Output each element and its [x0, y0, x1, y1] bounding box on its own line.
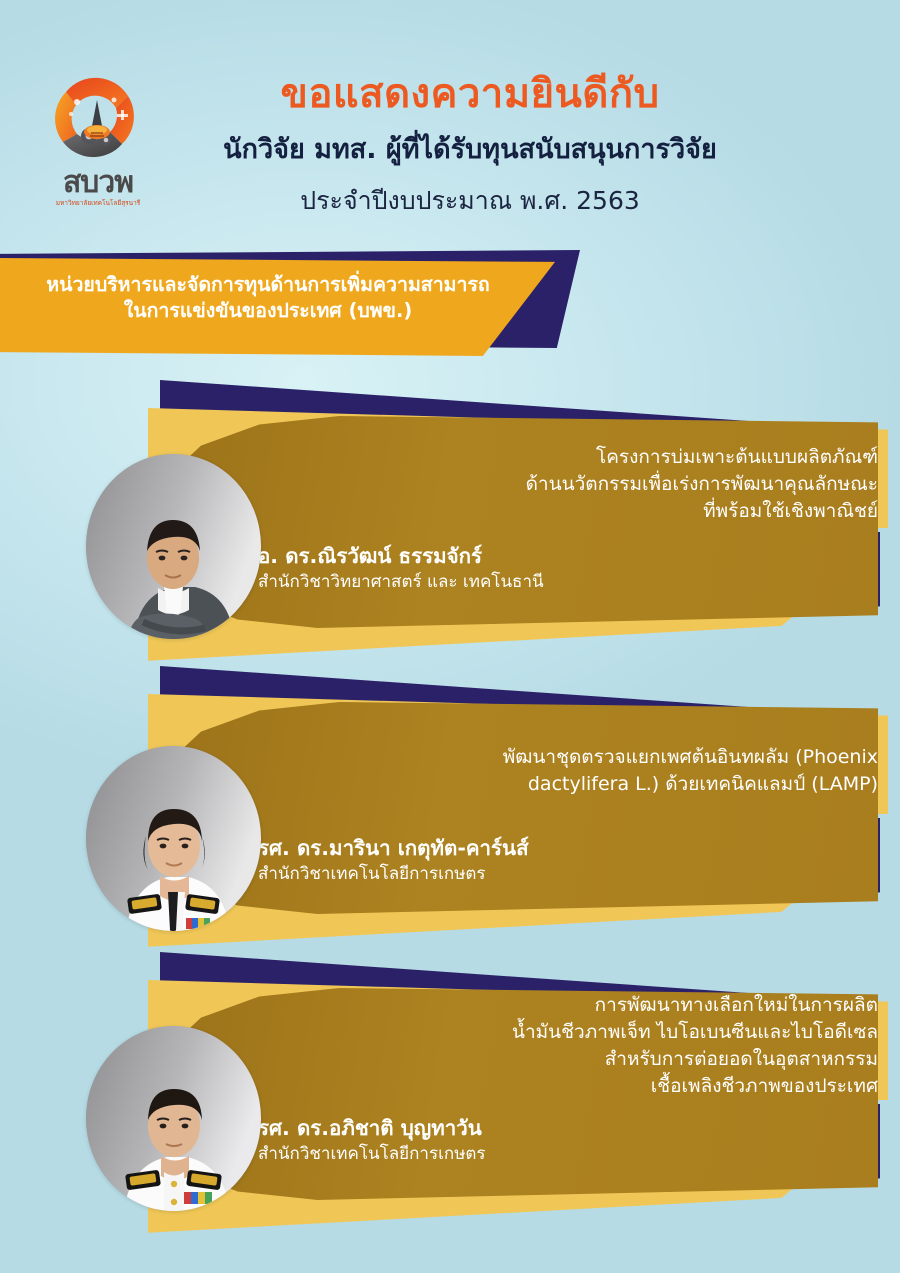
project-line: ที่พร้อมใช้เชิงพาณิชย์ — [703, 500, 878, 522]
banner-line-1: หน่วยบริหารและจัดการทุนด้านการเพิ่มความส… — [46, 273, 489, 296]
sut-research-institute-logo-icon — [36, 72, 160, 172]
project-title: โครงการบ่มเพาะต้นแบบผลิตภัณฑ์ ด้านนวัตกร… — [258, 444, 878, 525]
researcher-affiliation: สำนักวิชาเทคโนโลยีการเกษตร — [258, 864, 818, 885]
project-line: เชื้อเพลิงชีวภาพของประเทศ — [651, 1075, 878, 1097]
researcher-name: รศ. ดร.มารินา เกตุทัต-คาร์นส์ — [258, 836, 818, 862]
logo-subtitle: มหาวิทยาลัยเทคโนโลยีสุรนารี — [36, 200, 160, 207]
researcher-card: โครงการบ่มเพาะต้นแบบผลิตภัณฑ์ ด้านนวัตกร… — [0, 372, 900, 662]
page-title: ขอแสดงความยินดีกับ — [150, 72, 790, 117]
researcher-portrait — [86, 1026, 261, 1211]
project-line: ด้านนวัตกรรมเพื่อเร่งการพัฒนาคุณลักษณะ — [526, 473, 878, 495]
logo-acronym: สบวพ — [36, 168, 160, 198]
organization-logo: สบวพ มหาวิทยาลัยเทคโนโลยีสุรนารี — [36, 72, 160, 222]
poster-canvas: สบวพ มหาวิทยาลัยเทคโนโลยีสุรนารี ขอแสดงค… — [0, 0, 900, 1273]
project-line: dactylifera L.) ด้วยเทคนิคแลมป์ (LAMP) — [528, 773, 878, 795]
poster-header: สบวพ มหาวิทยาลัยเทคโนโลยีสุรนารี ขอแสดงค… — [0, 0, 900, 250]
researcher-affiliation: สำนักวิชาเทคโนโลยีการเกษตร — [258, 1144, 818, 1165]
project-title: พัฒนาชุดตรวจแยกเพศต้นอินทผลัม (Phoenix d… — [258, 744, 878, 798]
researcher-name: รศ. ดร.อภิชาติ บุญทาวัน — [258, 1116, 818, 1142]
project-line: โครงการบ่มเพาะต้นแบบผลิตภัณฑ์ — [596, 446, 878, 468]
portrait-uniform-female-icon — [86, 746, 261, 931]
portrait-uniform-male-icon — [86, 1026, 261, 1211]
portrait-suit-icon — [86, 454, 261, 639]
researcher-card: การพัฒนาทางเลือกใหม่ในการผลิต น้ำมันชีวภ… — [0, 944, 900, 1234]
page-subtitle-primary: นักวิจัย มทส. ผู้ที่ได้รับทุนสนับสนุนการ… — [150, 134, 790, 166]
banner-line-2: ในการแข่งขันของประเทศ (บพข.) — [124, 299, 413, 322]
project-line: การพัฒนาทางเลือกใหม่ในการผลิต — [595, 994, 878, 1016]
researcher-name: อ. ดร.ณิรวัฒน์ ธรรมจักร์ — [258, 544, 818, 570]
project-line: พัฒนาชุดตรวจแยกเพศต้นอินทผลัม (Phoenix — [503, 746, 878, 768]
funding-agency-banner: หน่วยบริหารและจัดการทุนด้านการเพิ่มความส… — [0, 250, 620, 360]
researcher-card: พัฒนาชุดตรวจแยกเพศต้นอินทผลัม (Phoenix d… — [0, 658, 900, 948]
researcher-affiliation: สำนักวิชาวิทยาศาสตร์ และ เทคโนธานี — [258, 572, 818, 593]
researcher-portrait — [86, 454, 261, 639]
project-title: การพัฒนาทางเลือกใหม่ในการผลิต น้ำมันชีวภ… — [258, 992, 878, 1100]
project-line: น้ำมันชีวภาพเจ็ท ไบโอเบนซีนและไบโอดีเซล — [512, 1021, 878, 1043]
researcher-portrait — [86, 746, 261, 931]
banner-text: หน่วยบริหารและจัดการทุนด้านการเพิ่มความส… — [8, 272, 528, 324]
page-subtitle-fiscal-year: ประจำปีงบประมาณ พ.ศ. 2563 — [150, 186, 790, 216]
project-line: สำหรับการต่อยอดในอุตสาหกรรม — [605, 1048, 878, 1070]
